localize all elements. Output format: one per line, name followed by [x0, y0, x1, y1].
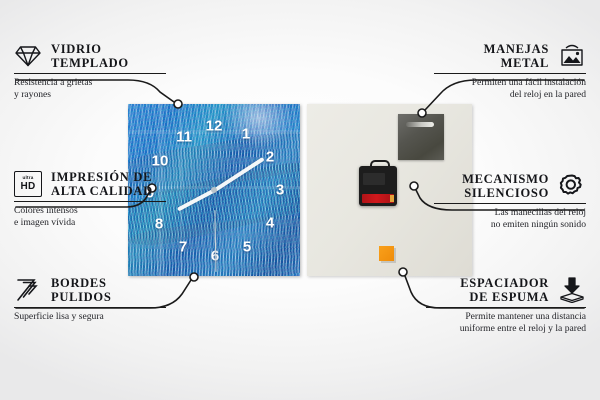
divider	[434, 203, 586, 204]
divider	[434, 73, 586, 74]
connector-dot-espaciador	[399, 268, 407, 276]
feature-espaciador-espuma[interactable]: ESPACIADOR DE ESPUMA Permite mantener un…	[426, 276, 586, 336]
ultra-hd-icon: ultra HD	[14, 170, 42, 198]
feature-subtitle: Permite mantener una distancia uniforme …	[426, 311, 586, 336]
feature-title: BORDES PULIDOS	[51, 276, 111, 304]
feature-title: IMPRESIÓN DE ALTA CALIDAD	[51, 170, 153, 198]
feature-title: VIDRIO TEMPLADO	[51, 42, 129, 70]
feature-manejas-metal[interactable]: MANEJAS METAL Permiten una fácil instala…	[434, 42, 586, 102]
connector-dot-mecanismo	[410, 182, 418, 190]
feature-subtitle: Colores intensos e imagen vívida	[14, 205, 166, 230]
ultra-hd-big-text: HD	[20, 182, 35, 192]
feature-title: MANEJAS METAL	[484, 42, 549, 70]
feature-subtitle: Las manecillas del reloj no emiten ningú…	[434, 207, 586, 232]
feature-subtitle: Permiten una fácil instalación del reloj…	[434, 77, 586, 102]
connector-dot-manejas	[418, 109, 426, 117]
feature-vidrio-templado[interactable]: VIDRIO TEMPLADO Resistencia a grietas y …	[14, 42, 166, 102]
foam-spacer-arrow-icon	[558, 276, 586, 304]
wall-hanger-frame-icon	[558, 42, 586, 70]
connector-dot-vidrio	[174, 100, 182, 108]
infographic-canvas: 12 1 2 3 4 5 6 7 8 9 10 11	[0, 0, 600, 400]
divider	[14, 307, 166, 308]
polished-edges-icon	[14, 276, 42, 304]
feature-title: MECANISMO SILENCIOSO	[462, 172, 549, 200]
feature-title: ESPACIADOR DE ESPUMA	[460, 276, 549, 304]
diamond-icon	[14, 42, 42, 70]
connector-dot-bordes	[190, 273, 198, 281]
feature-subtitle: Resistencia a grietas y rayones	[14, 77, 166, 102]
feature-impresion-alta-calidad[interactable]: ultra HD IMPRESIÓN DE ALTA CALIDAD Color…	[14, 170, 166, 230]
divider	[426, 307, 586, 308]
feature-mecanismo-silencioso[interactable]: MECANISMO SILENCIOSO Las manecillas del …	[434, 172, 586, 232]
divider	[14, 73, 166, 74]
gear-icon	[558, 172, 586, 200]
feature-bordes-pulidos[interactable]: BORDES PULIDOS Superficie lisa y segura	[14, 276, 166, 323]
feature-subtitle: Superficie lisa y segura	[14, 311, 166, 323]
divider	[14, 201, 166, 202]
